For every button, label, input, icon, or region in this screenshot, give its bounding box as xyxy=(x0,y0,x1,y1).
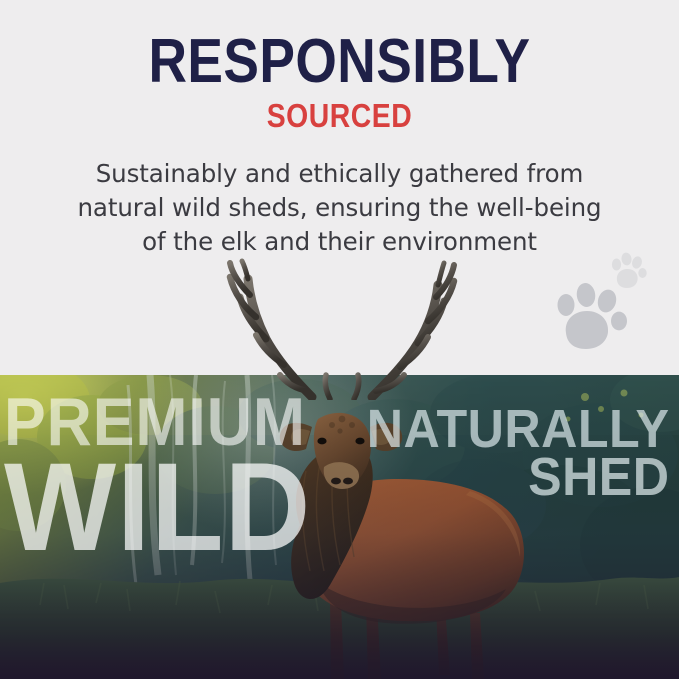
headline-block: RESPONSIBLY SOURCED xyxy=(0,32,679,132)
body-copy-line-3: of the elk and their environment xyxy=(40,225,639,259)
info-panel: RESPONSIBLY SOURCED Sustainably and ethi… xyxy=(0,0,679,375)
body-copy: Sustainably and ethically gathered from … xyxy=(40,157,639,258)
infographic-canvas: PREMIUM WILD NATURALLY SHED RESPONSIBLY … xyxy=(0,0,679,679)
hero-photo-stag xyxy=(0,375,679,679)
page-title: RESPONSIBLY xyxy=(48,32,632,93)
page-subtitle: SOURCED xyxy=(48,99,632,132)
body-copy-line-1: Sustainably and ethically gathered from xyxy=(40,157,639,191)
paw-print-icon xyxy=(553,281,631,353)
forest-scene-illustration xyxy=(0,375,679,679)
body-copy-line-2: natural wild sheds, ensuring the well-be… xyxy=(40,191,639,225)
